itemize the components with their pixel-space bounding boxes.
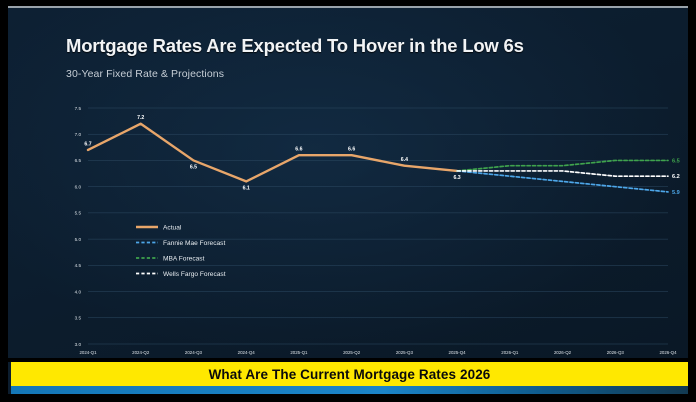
data-label: 6.4 — [401, 157, 408, 163]
y-axis-tick: 7.0 — [75, 132, 82, 137]
data-label: 6.6 — [348, 147, 355, 153]
x-axis-tick: 2024-Q2 — [132, 350, 150, 355]
chart-plot-area: 7.57.06.56.05.55.04.54.03.53.02024-Q1202… — [8, 8, 688, 358]
x-axis-tick: 2026-Q1 — [501, 350, 519, 355]
chart-card: Mortgage Rates Are Expected To Hover in … — [8, 6, 688, 358]
screenshot-root: Mortgage Rates Are Expected To Hover in … — [0, 0, 696, 402]
x-axis-tick: 2025-Q3 — [396, 350, 414, 355]
y-axis-tick: 5.5 — [75, 211, 82, 216]
line-chart: 7.57.06.56.05.55.04.54.03.53.02024-Q1202… — [8, 8, 688, 358]
y-axis-tick: 6.0 — [75, 184, 82, 189]
legend-label: MBA Forecast — [163, 256, 205, 263]
data-label: 6.6 — [295, 147, 302, 153]
x-axis-tick: 2024-Q1 — [79, 350, 97, 355]
y-axis-tick: 3.5 — [75, 316, 82, 321]
left-black-bar — [0, 6, 8, 394]
x-axis-tick: 2026-Q2 — [554, 350, 572, 355]
y-axis-tick: 7.5 — [75, 106, 82, 111]
x-axis-tick: 2026-Q3 — [607, 350, 625, 355]
bottom-banner: What Are The Current Mortgage Rates 2026 — [8, 362, 688, 386]
series-line-mba-forecast — [457, 160, 668, 170]
y-axis-tick: 4.0 — [75, 289, 82, 294]
x-axis-tick: 2026-Q4 — [659, 350, 677, 355]
data-label: 7.2 — [137, 115, 144, 121]
data-label: 6.7 — [84, 141, 91, 147]
bottom-blue-strip — [8, 386, 688, 394]
x-axis-tick: 2025-Q1 — [290, 350, 308, 355]
series-end-label: 5.9 — [672, 190, 680, 196]
series-end-label: 6.2 — [672, 174, 680, 180]
data-label: 6.3 — [453, 175, 460, 181]
banner-title: What Are The Current Mortgage Rates 2026 — [209, 367, 491, 382]
legend-label: Actual — [163, 225, 182, 232]
data-label: 6.5 — [190, 164, 197, 170]
series-line-actual — [88, 124, 457, 182]
x-axis-tick: 2024-Q4 — [238, 350, 256, 355]
legend-label: Wells Fargo Forecast — [163, 271, 226, 278]
y-axis-tick: 3.0 — [75, 342, 82, 347]
data-label: 6.1 — [243, 185, 250, 191]
series-end-label: 6.5 — [672, 158, 680, 164]
x-axis-tick: 2025-Q4 — [449, 350, 467, 355]
x-axis-tick: 2025-Q2 — [343, 350, 361, 355]
x-axis-tick: 2024-Q3 — [185, 350, 203, 355]
legend-label: Fannie Mae Forecast — [163, 240, 225, 247]
y-axis-tick: 6.5 — [75, 158, 82, 163]
y-axis-tick: 5.0 — [75, 237, 82, 242]
y-axis-tick: 4.5 — [75, 263, 82, 268]
series-line-fannie-mae-forecast — [457, 171, 668, 192]
